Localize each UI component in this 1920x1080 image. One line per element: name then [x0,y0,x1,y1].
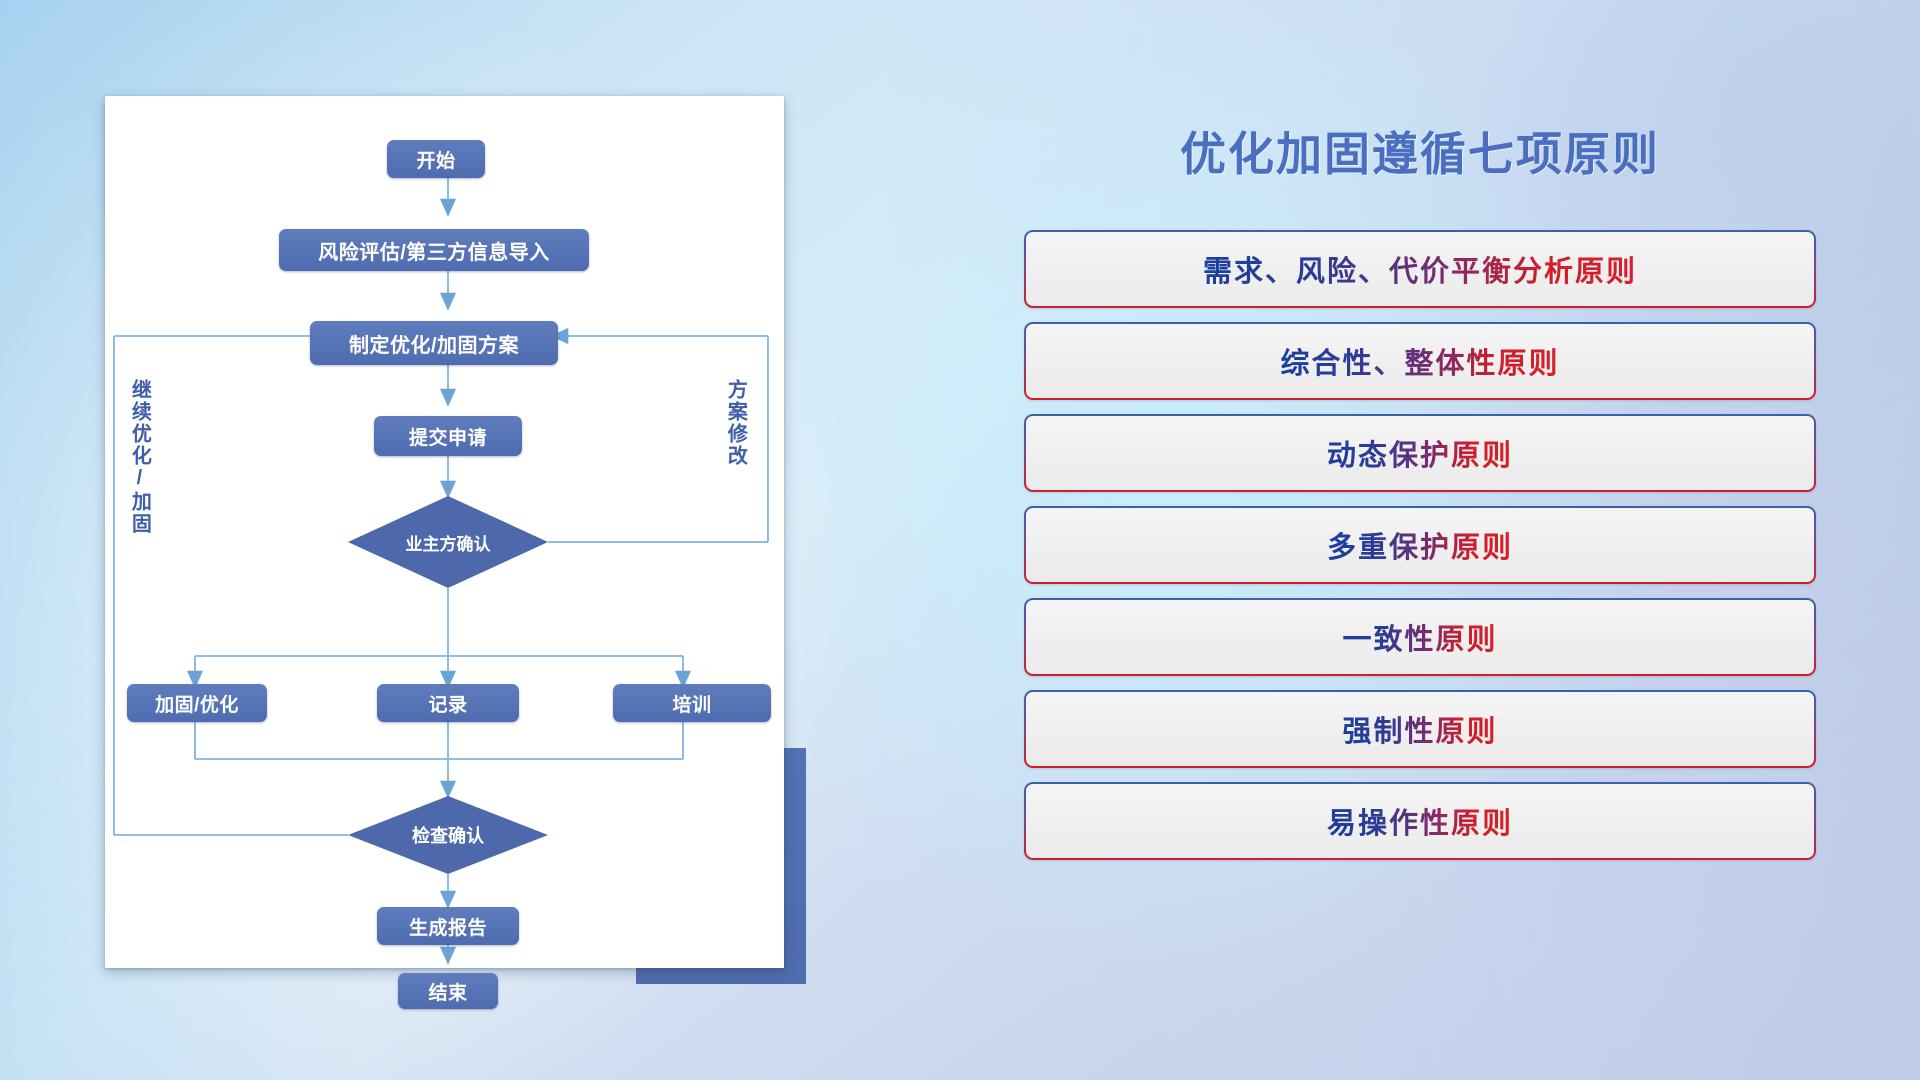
flow-node-end[interactable]: 结束 [398,973,498,1009]
flow-node-label: 培训 [672,690,711,717]
flow-node-training[interactable]: 培训 [613,684,771,722]
principles-panel: 优化加固遵循七项原则 需求、风险、代价平衡分析原则 综合性、整体性原则 动态保护… [1000,96,1840,996]
flow-decision-label: 业主方确认 [406,530,491,555]
flow-node-label: 记录 [428,690,467,717]
flow-node-label: 结束 [428,978,467,1005]
flow-edge-label-plan-revision: 方案修改 [725,379,745,467]
principle-label: 需求、风险、代价平衡分析原则 [1203,248,1637,290]
principle-label: 多重保护原则 [1327,524,1513,566]
flow-node-reinforce-optimize[interactable]: 加固/优化 [127,684,267,722]
principle-label: 易操作性原则 [1327,800,1513,842]
flow-node-label: 提交申请 [409,423,487,450]
flow-decision-label: 检查确认 [412,822,484,848]
flow-node-submit-application[interactable]: 提交申请 [374,416,522,456]
principle-item[interactable]: 综合性、整体性原则 [1024,322,1816,400]
principle-item[interactable]: 动态保护原则 [1024,414,1816,492]
principle-label: 一致性原则 [1342,616,1497,658]
principle-item[interactable]: 强制性原则 [1024,690,1816,768]
flow-edge-label-continue-optimize: 继续优化/加固 [129,379,149,535]
principles-list: 需求、风险、代价平衡分析原则 综合性、整体性原则 动态保护原则 多重保护原则 一… [1024,230,1816,874]
flow-node-label: 开始 [416,146,455,173]
flow-node-label: 加固/优化 [155,690,239,717]
flow-node-record[interactable]: 记录 [377,684,519,722]
flow-node-label: 风险评估/第三方信息导入 [318,236,550,265]
principle-label: 强制性原则 [1342,708,1497,750]
principle-label: 动态保护原则 [1327,432,1513,474]
principle-item[interactable]: 需求、风险、代价平衡分析原则 [1024,230,1816,308]
principle-label: 综合性、整体性原则 [1280,340,1559,382]
principle-item[interactable]: 易操作性原则 [1024,782,1816,860]
panel-title: 优化加固遵循七项原则 [1000,118,1840,184]
flow-node-generate-report[interactable]: 生成报告 [377,907,519,945]
principle-item[interactable]: 多重保护原则 [1024,506,1816,584]
flow-node-plan[interactable]: 制定优化/加固方案 [310,321,558,365]
flow-node-start[interactable]: 开始 [387,140,485,178]
flow-node-label: 生成报告 [409,913,487,940]
flow-node-label: 制定优化/加固方案 [349,329,519,358]
flow-node-risk-assessment[interactable]: 风险评估/第三方信息导入 [279,229,589,271]
principle-item[interactable]: 一致性原则 [1024,598,1816,676]
flowchart-card: 开始 风险评估/第三方信息导入 制定优化/加固方案 提交申请 业主方确认 加固/… [105,96,784,968]
